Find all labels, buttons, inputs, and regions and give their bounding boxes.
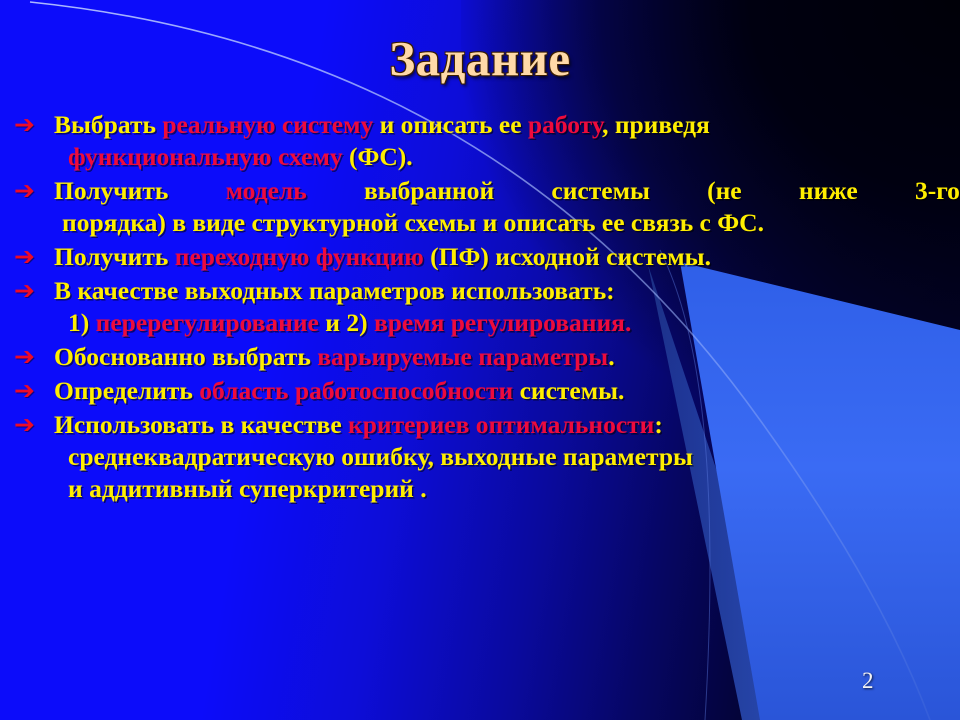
text-run: 2) [346, 308, 367, 337]
bullet-row: ➔Выбрать реальную систему и описать ее р… [0, 112, 960, 138]
text-run: выбранной [364, 178, 494, 204]
text-run-highlight: функциональную схему [68, 142, 343, 171]
bullet-continuation-row: и аддитивный суперкритерий . [0, 476, 960, 502]
bullet-row: ➔В качестве выходных параметров использо… [0, 278, 960, 304]
text-run: системы [551, 178, 649, 204]
text-run: (ФС). [343, 142, 413, 171]
arrow-bullet-icon: ➔ [14, 344, 54, 369]
bullet-row: ➔Обоснованно выбрать варьируемые парамет… [0, 344, 960, 370]
text-run: : [654, 410, 663, 439]
text-run: Выбрать [54, 110, 162, 139]
bullet-text: Обоснованно выбрать варьируемые параметр… [54, 344, 960, 370]
bullet-row: ➔Получитьмодельвыбраннойсистемы(нениже3-… [0, 178, 960, 204]
bullet-continuation-row: порядка) в виде структурной схемы и опис… [0, 210, 960, 236]
text-run: Определить [54, 376, 199, 405]
text-run: , приведя [602, 110, 710, 139]
text-run: порядка) в виде структурной схемы и опис… [62, 208, 764, 237]
bullet-text: Получитьмодельвыбраннойсистемы(нениже3-г… [54, 178, 960, 204]
text-run: 1) [68, 308, 96, 337]
text-run: Получить [54, 242, 175, 271]
text-run-highlight: работу [528, 110, 602, 139]
bullet-list: ➔Выбрать реальную систему и описать ее р… [0, 112, 960, 502]
text-run: и [319, 308, 346, 337]
text-run-highlight: область работоспособности [199, 376, 513, 405]
bullet-continuation-row: среднеквадратическую ошибку, выходные па… [0, 444, 960, 470]
bullet-text: Определить область работоспособности сис… [54, 378, 960, 404]
bullet-text: В качестве выходных параметров использов… [54, 278, 960, 304]
arrow-bullet-icon: ➔ [14, 278, 54, 303]
bullet-row: ➔Использовать в качестве критериев оптим… [0, 412, 960, 438]
bullet-text: Использовать в качестве критериев оптима… [54, 412, 960, 438]
text-run-highlight: модель [226, 178, 307, 204]
text-run: среднеквадратическую ошибку, выходные па… [68, 442, 693, 471]
arrow-bullet-icon: ➔ [14, 178, 54, 203]
bullet-row: ➔Получить переходную функцию (ПФ) исходн… [0, 244, 960, 270]
text-run: ниже [799, 178, 858, 204]
text-run: В качестве выходных параметров использов… [54, 276, 615, 305]
text-run: 3-го [915, 178, 960, 204]
bullet-text: Получить переходную функцию (ПФ) исходно… [54, 244, 960, 270]
arrow-bullet-icon: ➔ [14, 412, 54, 437]
bullet-text: порядка) в виде структурной схемы и опис… [62, 210, 960, 236]
bullet-text: среднеквадратическую ошибку, выходные па… [68, 444, 960, 470]
text-run-highlight: перерегулирование [96, 308, 319, 337]
bullet-row: ➔Определить область работоспособности си… [0, 378, 960, 404]
slide-number: 2 [862, 668, 874, 694]
text-run-highlight: варьируемые параметры [317, 342, 608, 371]
text-run: . [608, 342, 614, 371]
bullet-text: функциональную схему (ФС). [68, 144, 960, 170]
bullet-text: 1) перерегулирование и 2) время регулиро… [68, 310, 960, 336]
bullet-continuation-row: 1) перерегулирование и 2) время регулиро… [0, 310, 960, 336]
text-run-highlight: реальную систему [162, 110, 373, 139]
text-run: системы. [513, 376, 624, 405]
arrow-bullet-icon: ➔ [14, 378, 54, 403]
text-run: и аддитивный суперкритерий . [68, 474, 427, 503]
arrow-bullet-icon: ➔ [14, 112, 54, 137]
text-run: Обоснованно выбрать [54, 342, 317, 371]
bullet-text: Выбрать реальную систему и описать ее ра… [54, 112, 960, 138]
text-run: (не [707, 178, 742, 204]
bullet-text: и аддитивный суперкритерий . [68, 476, 960, 502]
text-run: Получить [54, 178, 168, 204]
slide-title: Задание [0, 34, 960, 83]
text-run: Использовать в качестве [54, 410, 348, 439]
text-run-highlight: критериев оптимальности [348, 410, 654, 439]
arrow-bullet-icon: ➔ [14, 244, 54, 269]
presentation-slide: Задание ➔Выбрать реальную систему и опис… [0, 0, 960, 720]
text-run: (ПФ) исходной системы. [424, 242, 711, 271]
text-run: и описать ее [373, 110, 528, 139]
text-run-highlight: переходную функцию [175, 242, 424, 271]
bullet-continuation-row: функциональную схему (ФС). [0, 144, 960, 170]
text-run-highlight: время регулирования. [368, 308, 632, 337]
